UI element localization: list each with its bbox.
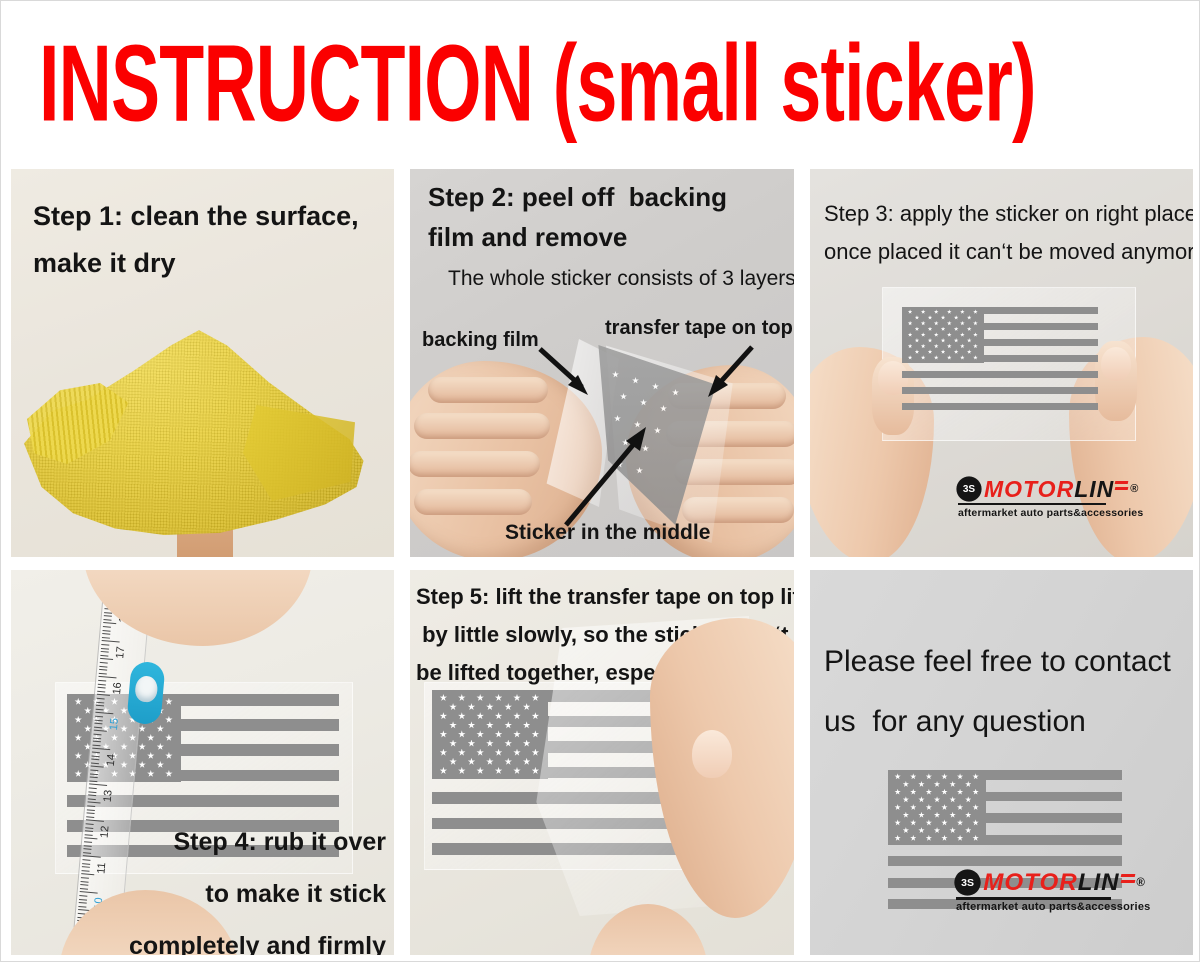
- ruler-tick: [87, 802, 100, 804]
- flag-star: [954, 349, 959, 354]
- logo-equals-icon: [1115, 481, 1128, 490]
- ruler-tick: [86, 823, 94, 825]
- flag-star: [908, 355, 913, 360]
- logo-rule: [956, 897, 1111, 899]
- logo-wordmark: MOTORLIN: [984, 477, 1114, 501]
- flag-star: [965, 796, 971, 802]
- ruler-number: 11: [95, 862, 108, 874]
- flag-star: [458, 730, 466, 738]
- flag-star: [910, 773, 916, 779]
- ruler-tick: [92, 755, 100, 757]
- ruler-tick: [95, 719, 103, 721]
- instruction-sheet: INSTRUCTION (small sticker) Step 1: clea…: [0, 0, 1200, 962]
- step-4-heading: Step 4: rub it over to make it stick com…: [129, 816, 386, 955]
- flag-star: [458, 767, 466, 775]
- flag-star: [934, 827, 940, 833]
- flag-star: [468, 758, 476, 766]
- flag-star: [921, 344, 926, 349]
- ruler-number: 13: [102, 790, 115, 803]
- flag-star: [523, 721, 531, 729]
- ruler-tick: [79, 902, 87, 904]
- ruler-tick: [87, 805, 95, 807]
- flag-star: [486, 758, 494, 766]
- logo-tagline: aftermarket auto parts&accessories: [958, 507, 1106, 519]
- ruler-tick: [98, 687, 106, 689]
- ruler-tick: [101, 648, 109, 650]
- ruler-tick: [98, 683, 106, 685]
- flag-star: [165, 734, 173, 742]
- flag-canton: [432, 690, 548, 779]
- flag-star: [941, 804, 947, 810]
- flag-star: [972, 804, 978, 810]
- flag-star: [903, 827, 909, 833]
- ruler-tick: [93, 737, 101, 739]
- flag-star: [918, 812, 924, 818]
- logo-word-red: MOTOR: [984, 476, 1074, 502]
- flag-star: [513, 767, 521, 775]
- flag-star: [941, 315, 946, 320]
- ruler-tick: [104, 615, 112, 617]
- flag-star: [138, 743, 146, 751]
- ruler-tick: [99, 665, 107, 667]
- flag-star: [921, 309, 926, 314]
- flag-star: [165, 752, 173, 760]
- ruler-tick: [96, 701, 104, 703]
- flag-star: [941, 835, 947, 841]
- flag-star: [513, 749, 521, 757]
- flag-star: [921, 332, 926, 337]
- flag-star: [941, 819, 947, 825]
- flag-star: [908, 344, 913, 349]
- arrow-to-sticker-middle-icon: [560, 419, 654, 529]
- flag-star: [928, 338, 933, 343]
- flag-star: [476, 712, 484, 720]
- flag-star: [957, 835, 963, 841]
- flag-stripe: [902, 403, 1098, 410]
- ruler-tick: [84, 845, 92, 847]
- right-thumbnail-shape: [1101, 347, 1131, 381]
- ruler-tick: [85, 827, 93, 829]
- thumbnail-shape: [692, 730, 732, 778]
- flag-star: [495, 749, 503, 757]
- ruler-tick: [94, 723, 102, 725]
- ruler-tick: [86, 820, 104, 823]
- flag-star: [908, 332, 913, 337]
- flag-star: [74, 698, 82, 706]
- flag-star: [165, 716, 173, 724]
- flag-star: [147, 770, 155, 778]
- ruler-tick: [84, 841, 92, 843]
- flag-star: [926, 804, 932, 810]
- flag-star: [967, 327, 972, 332]
- ruler-tick: [97, 698, 105, 700]
- flag-star: [928, 315, 933, 320]
- label-backing-film: backing film: [422, 329, 539, 352]
- ruler-tick: [89, 787, 97, 789]
- flag-star: [960, 332, 965, 337]
- ruler-tick: [89, 780, 97, 782]
- flag-star: [165, 770, 173, 778]
- flag-star: [894, 819, 900, 825]
- flag-canton: [888, 770, 986, 845]
- flag-star: [973, 321, 978, 326]
- ruler-tick: [82, 859, 90, 861]
- flag-star: [934, 355, 939, 360]
- flag-star: [926, 819, 932, 825]
- flag-star: [903, 781, 909, 787]
- ruler-tick: [102, 633, 110, 635]
- ruler-tick: [97, 694, 110, 696]
- flag-star: [972, 773, 978, 779]
- ruler-tick: [102, 640, 120, 643]
- ruler-tick: [100, 655, 108, 657]
- flag-star: [954, 338, 959, 343]
- logo-equals-icon: [1121, 874, 1135, 883]
- ruler-tick: [80, 891, 98, 894]
- ruler-tick: [93, 741, 101, 743]
- panel-step-2: Step 2: peel off backing film and remove…: [410, 169, 794, 557]
- flag-star: [960, 309, 965, 314]
- ruler-tick: [83, 852, 91, 854]
- flag-star: [157, 725, 165, 733]
- flag-star: [967, 349, 972, 354]
- flag-star: [495, 712, 503, 720]
- motorline-logo: 3S MOTORLIN ® aftermarket auto parts&acc…: [956, 870, 1145, 913]
- ruler-tick: [101, 651, 109, 653]
- flag-star: [967, 315, 972, 320]
- flag-star: [523, 703, 531, 711]
- ruler-tick: [81, 877, 89, 879]
- flag-star: [504, 758, 512, 766]
- ruler-number: 14: [105, 754, 118, 767]
- flag-star: [513, 712, 521, 720]
- flag-star: [954, 315, 959, 320]
- flag-star: [894, 835, 900, 841]
- flag-star: [138, 725, 146, 733]
- flag-star: [918, 796, 924, 802]
- flag-star: [486, 740, 494, 748]
- ruler-tick: [91, 766, 104, 768]
- flag-star: [440, 712, 448, 720]
- ruler-tick: [91, 759, 99, 761]
- flag-star: [960, 355, 965, 360]
- ruler-tick: [99, 673, 107, 675]
- flag-star: [934, 321, 939, 326]
- flag-star: [903, 812, 909, 818]
- flag-star: [965, 827, 971, 833]
- flag-star: [949, 796, 955, 802]
- ruler-tick: [85, 834, 93, 836]
- logo-registered-mark: ®: [1136, 877, 1145, 889]
- flag-star: [934, 796, 940, 802]
- ruler-tick: [90, 777, 98, 779]
- logo-wordmark: MOTORLIN: [983, 870, 1119, 895]
- ruler-tick: [79, 895, 87, 897]
- flag-star: [908, 309, 913, 314]
- flag-star: [468, 721, 476, 729]
- flag-star: [957, 789, 963, 795]
- flag-star: [449, 758, 457, 766]
- gear-badge-text: 3S: [956, 871, 979, 894]
- ruler-tick: [86, 816, 94, 818]
- flag-star: [910, 789, 916, 795]
- ruler-tick: [82, 870, 90, 872]
- panel-contact: Please feel free to contact us for any q…: [810, 570, 1193, 955]
- flag-star: [468, 740, 476, 748]
- flag-star: [949, 812, 955, 818]
- flag-star: [941, 789, 947, 795]
- ruler-tick: [103, 630, 111, 632]
- ruler-tick: [96, 709, 104, 711]
- ruler-tick: [92, 752, 100, 754]
- ruler-tick: [98, 676, 116, 679]
- ruler-tick: [95, 716, 103, 718]
- ruler-tick: [95, 712, 113, 715]
- flag-star: [949, 827, 955, 833]
- step-2-heading: Step 2: peel off backing film and remove: [428, 177, 727, 257]
- flag-star: [934, 812, 940, 818]
- arrow-to-transfer-tape-icon: [700, 345, 756, 403]
- flag-star: [458, 694, 466, 702]
- flag-star: [926, 835, 932, 841]
- flag-star: [915, 349, 920, 354]
- flag-star: [947, 321, 952, 326]
- flag-star: [957, 819, 963, 825]
- flag-star: [928, 349, 933, 354]
- logo-word-black: LIN: [1074, 476, 1114, 502]
- flag-star: [947, 344, 952, 349]
- ruler-tick: [94, 726, 102, 728]
- ruler-tick: [88, 798, 96, 800]
- ruler-tick: [88, 795, 96, 797]
- ruler-tick: [103, 622, 116, 624]
- panel-step-5: Step 5: lift the transfer tape on top li…: [410, 570, 794, 955]
- step-2-note: The whole sticker consists of 3 layers: [448, 267, 794, 291]
- flag-star: [973, 309, 978, 314]
- flag-star: [523, 758, 531, 766]
- flag-star: [973, 344, 978, 349]
- gear-badge-icon: 3S: [958, 478, 980, 500]
- gear-badge-text: 3S: [958, 478, 980, 500]
- flag-star: [965, 781, 971, 787]
- ruler-tick: [100, 662, 108, 664]
- flag-star: [74, 770, 82, 778]
- ruler-tick: [93, 734, 101, 736]
- flag-star: [476, 749, 484, 757]
- flag-star: [894, 804, 900, 810]
- ruler-tick: [91, 762, 99, 764]
- ruler-number: 16: [111, 682, 124, 695]
- step-3-heading: Step 3: apply the sticker on right place…: [824, 195, 1193, 271]
- ruler-tick: [82, 866, 90, 868]
- page-title: INSTRUCTION (small sticker): [39, 25, 1036, 143]
- logo-registered-mark: ®: [1130, 483, 1138, 495]
- flag-star: [532, 730, 540, 738]
- ruler-tick: [79, 899, 87, 901]
- ruler-tick: [87, 813, 95, 815]
- ruler-tick: [102, 637, 110, 639]
- ruler-number: 12: [98, 826, 111, 839]
- flag-star: [949, 781, 955, 787]
- ruler-tick: [98, 680, 106, 682]
- flag-star: [960, 321, 965, 326]
- flag-star: [504, 740, 512, 748]
- ruler-tick: [100, 658, 113, 660]
- flag-star: [476, 767, 484, 775]
- flag-star: [928, 327, 933, 332]
- arrow-to-backing-film-icon: [538, 347, 598, 401]
- flag-decal: [902, 307, 1098, 411]
- flag-star: [504, 703, 512, 711]
- ruler-tick: [84, 838, 97, 840]
- flag-star: [965, 812, 971, 818]
- flag-star: [947, 332, 952, 337]
- gear-badge-icon: 3S: [956, 871, 979, 894]
- flag-star: [934, 332, 939, 337]
- ruler-tick: [94, 730, 107, 732]
- flag-stripe: [888, 856, 1122, 866]
- flag-star: [921, 355, 926, 360]
- flag-star: [513, 730, 521, 738]
- flag-star: [74, 734, 82, 742]
- ruler-tick: [83, 856, 101, 859]
- ruler-tick: [81, 881, 89, 883]
- ruler-tick: [92, 748, 110, 751]
- flag-star: [532, 694, 540, 702]
- motorline-logo: 3S MOTORLIN ® aftermarket auto parts&acc…: [958, 477, 1138, 519]
- flag-star: [910, 804, 916, 810]
- flag-star: [967, 338, 972, 343]
- flag-star: [972, 835, 978, 841]
- flag-star: [458, 749, 466, 757]
- flag-star: [138, 761, 146, 769]
- flag-canton: [902, 307, 984, 363]
- flag-star: [926, 789, 932, 795]
- flag-star: [486, 721, 494, 729]
- flag-star: [495, 694, 503, 702]
- ruler-tick: [83, 848, 91, 850]
- towel-photo: [11, 287, 394, 557]
- ruler-tick: [80, 888, 88, 890]
- logo-rule: [958, 503, 1106, 505]
- flag-star: [957, 773, 963, 779]
- flag-star: [157, 761, 165, 769]
- ruler-tick: [101, 644, 109, 646]
- flag-star: [495, 730, 503, 738]
- ruler-tick: [103, 626, 111, 628]
- flag-stripe: [902, 371, 1098, 378]
- flag-star: [74, 716, 82, 724]
- flag-star: [941, 338, 946, 343]
- flag-star: [440, 730, 448, 738]
- flag-star: [449, 740, 457, 748]
- flag-star: [523, 740, 531, 748]
- flag-star: [934, 781, 940, 787]
- flag-star: [532, 712, 540, 720]
- ruler-tick: [88, 791, 96, 793]
- ruler-tick: [82, 863, 90, 865]
- flag-star: [449, 721, 457, 729]
- flag-star: [973, 355, 978, 360]
- ruler-tick: [99, 669, 107, 671]
- flag-star: [934, 309, 939, 314]
- flag-star: [915, 338, 920, 343]
- panel-step-1: Step 1: clean the surface, make it dry: [11, 169, 394, 557]
- flag-star: [934, 344, 939, 349]
- label-transfer-tape: transfer tape on top: [605, 317, 793, 340]
- flag-star: [941, 773, 947, 779]
- flag-star: [972, 789, 978, 795]
- flag-star: [972, 819, 978, 825]
- flag-star: [894, 773, 900, 779]
- flag-star: [504, 721, 512, 729]
- flag-star: [915, 315, 920, 320]
- logo-tagline: aftermarket auto parts&accessories: [956, 901, 1111, 913]
- flag-star: [954, 327, 959, 332]
- flag-star: [915, 327, 920, 332]
- contact-heading: Please feel free to contact us for any q…: [824, 632, 1171, 752]
- flag-star: [973, 332, 978, 337]
- flag-star: [908, 321, 913, 326]
- ruler-tick: [90, 769, 98, 771]
- panel-step-4: 9101112131415161718 Step 4: rub it over …: [11, 570, 394, 955]
- ruler-tick: [87, 809, 95, 811]
- ruler-tick: [97, 691, 105, 693]
- flag-star: [165, 698, 173, 706]
- flag-star: [921, 321, 926, 326]
- flag-stripe: [902, 387, 1098, 394]
- flag-star: [947, 355, 952, 360]
- flag-star: [960, 344, 965, 349]
- flag-star: [84, 707, 92, 715]
- ruler-tick: [96, 705, 104, 707]
- flag-star: [947, 309, 952, 314]
- ruler-tick: [80, 884, 88, 886]
- flag-star: [532, 749, 540, 757]
- ruler-tick: [89, 784, 107, 787]
- ruler-tick: [78, 906, 86, 908]
- logo-word-red: MOTOR: [983, 869, 1077, 896]
- panel-step-3: Step 3: apply the sticker on right place…: [810, 169, 1193, 557]
- steps-grid: Step 1: clean the surface, make it dry S…: [11, 169, 1193, 955]
- flag-star: [476, 730, 484, 738]
- flag-star: [910, 819, 916, 825]
- flag-star: [903, 796, 909, 802]
- ruler-tick: [85, 830, 93, 832]
- flag-star: [440, 749, 448, 757]
- flag-star: [458, 712, 466, 720]
- flag-star: [513, 694, 521, 702]
- flag-star: [894, 789, 900, 795]
- flag-star: [449, 703, 457, 711]
- flag-star: [918, 781, 924, 787]
- flag-star: [486, 703, 494, 711]
- flag-star: [910, 835, 916, 841]
- flag-star: [440, 694, 448, 702]
- flag-star: [440, 767, 448, 775]
- flag-star: [495, 767, 503, 775]
- ruler-tick: [81, 873, 94, 875]
- ruler-tick: [103, 619, 111, 621]
- flag-star: [532, 767, 540, 775]
- flag-star: [147, 734, 155, 742]
- flag-star: [941, 327, 946, 332]
- sheet-header: INSTRUCTION (small sticker): [1, 1, 1200, 161]
- flag-star: [157, 743, 165, 751]
- flag-star: [941, 349, 946, 354]
- ruler-number: 17: [114, 646, 127, 659]
- ruler-tick: [93, 744, 101, 746]
